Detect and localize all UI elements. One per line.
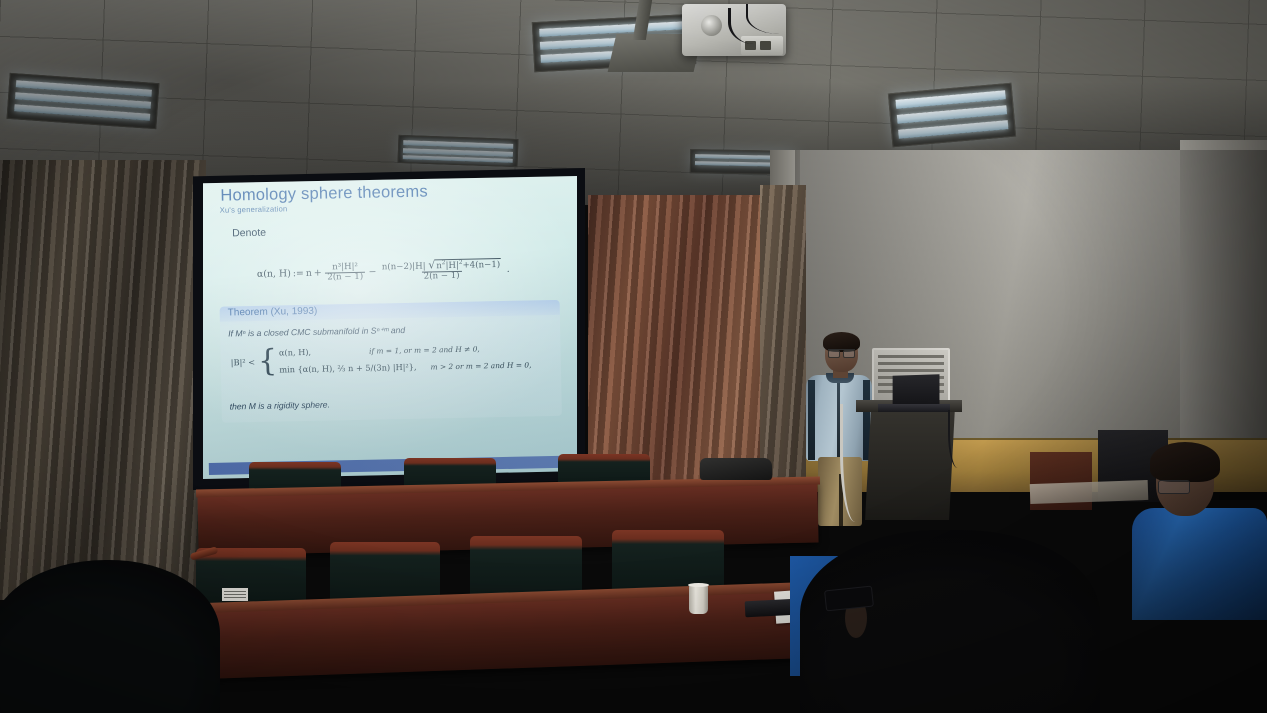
attendee-blue-jacket-hair bbox=[1150, 442, 1220, 482]
speaker-glasses-icon bbox=[828, 349, 855, 356]
black-bag bbox=[700, 458, 772, 480]
screen-vignette bbox=[203, 176, 577, 479]
projector-lens-icon bbox=[701, 15, 722, 36]
lecture-hall-photo: Homology sphere theorems Xu's generaliza… bbox=[0, 0, 1267, 713]
speaker-jacket-stripe-left bbox=[808, 380, 815, 460]
curtain-left bbox=[0, 160, 206, 600]
laptop-screen bbox=[893, 374, 940, 408]
attendee-blue-jacket-shading bbox=[1132, 508, 1267, 620]
desk-name-card bbox=[222, 588, 248, 601]
attendee-left-silhouette bbox=[0, 560, 220, 713]
projection-screen: Homology sphere theorems Xu's generaliza… bbox=[203, 176, 577, 479]
attendee-blue-jacket bbox=[1128, 440, 1267, 620]
podium-cable bbox=[948, 410, 964, 468]
curtain-right-edge bbox=[760, 185, 806, 485]
chair-row2-1 bbox=[196, 548, 306, 608]
laptop-keyboard-base bbox=[878, 404, 950, 412]
paper-cup bbox=[689, 585, 708, 614]
attendee-glasses-icon bbox=[1158, 480, 1190, 494]
lectern bbox=[865, 408, 955, 520]
